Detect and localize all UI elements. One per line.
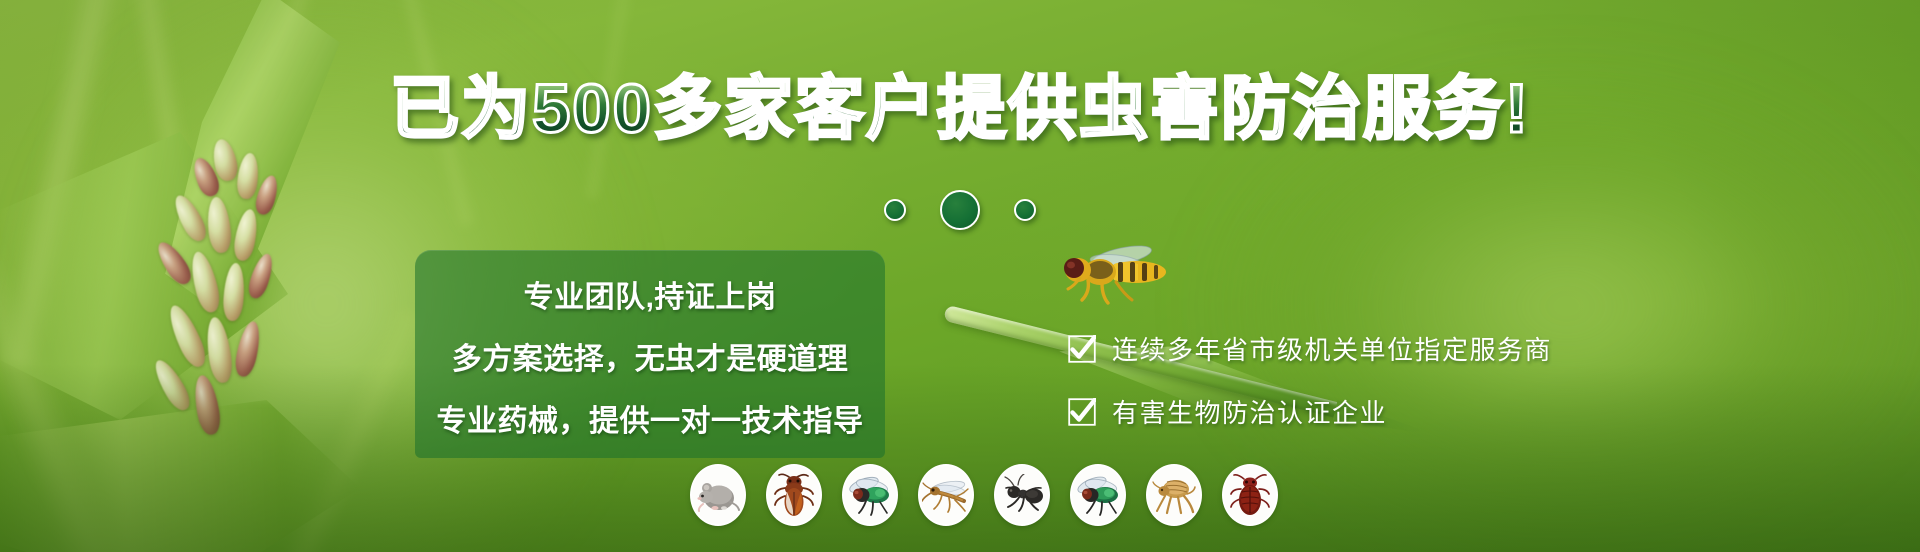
- flea-icon[interactable]: [1146, 464, 1202, 526]
- headline-container: 已为500多家客户提供虫害防治服务!: [0, 74, 1920, 143]
- bedbug-icon[interactable]: [1222, 464, 1278, 526]
- decor-dot-icon: [940, 190, 980, 230]
- pest-type-strip: [690, 464, 1278, 526]
- mosquito-icon[interactable]: [918, 464, 974, 526]
- certification-checklist: 连续多年省市级机关单位指定服务商 有害生物防治认证企业: [1068, 330, 1552, 456]
- claim-item: 专业团队,持证上岗: [415, 272, 885, 316]
- checklist-item: 连续多年省市级机关单位指定服务商: [1068, 330, 1552, 367]
- claim-item: 多方案选择，无虫才是硬道理: [415, 334, 885, 378]
- ant-icon[interactable]: [994, 464, 1050, 526]
- checklist-item-label: 连续多年省市级机关单位指定服务商: [1112, 330, 1552, 367]
- claim-item: 专业药械，提供一对一技术指导: [415, 396, 885, 440]
- pest-control-hero-banner: 已为500多家客户提供虫害防治服务! 专业团队,持证上岗 多方案选择，无虫才是硬…: [0, 0, 1920, 552]
- cockroach-icon[interactable]: [766, 464, 822, 526]
- rodent-icon[interactable]: [690, 464, 746, 526]
- decor-dot-icon: [884, 199, 906, 221]
- checklist-item: 有害生物防治认证企业: [1068, 393, 1552, 430]
- banner-headline: 已为500多家客户提供虫害防治服务!: [390, 74, 1530, 143]
- blowfly-icon[interactable]: [842, 464, 898, 526]
- checkbox-checked-icon: [1068, 335, 1096, 363]
- decor-dot-icon: [1014, 199, 1036, 221]
- claims-panel: 专业团队,持证上岗 多方案选择，无虫才是硬道理 专业药械，提供一对一技术指导: [415, 250, 885, 458]
- decorative-dots: [0, 190, 1920, 230]
- checkbox-checked-icon: [1068, 398, 1096, 426]
- checklist-item-label: 有害生物防治认证企业: [1112, 393, 1387, 430]
- housefly-icon[interactable]: [1070, 464, 1126, 526]
